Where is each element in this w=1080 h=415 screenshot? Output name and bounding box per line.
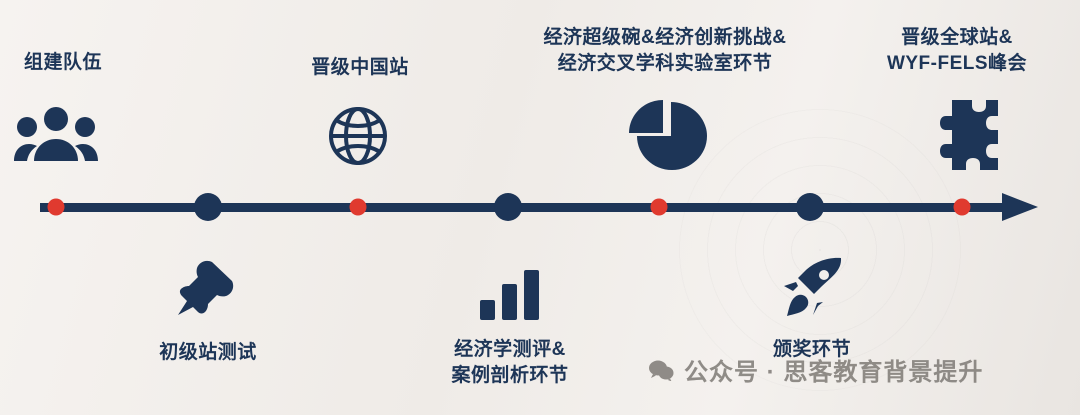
bar-chart-icon [476, 270, 544, 320]
team-icon [14, 105, 98, 165]
timeline-label-1: 组建队伍 [0, 50, 173, 76]
timeline-node-2[interactable] [194, 193, 222, 221]
watermark: 公众号 · 思客教育背景提升 [648, 352, 983, 387]
timeline-label-2: 初级站测试 [78, 340, 338, 366]
timeline-diagram: 组建队伍 初级站测试 晋级中国站 [0, 0, 1080, 415]
timeline-node-5[interactable] [651, 199, 668, 216]
puzzle-icon [922, 96, 1002, 176]
pin-icon [177, 256, 239, 318]
timeline-node-3[interactable] [350, 199, 367, 216]
timeline-arrow-icon [1002, 193, 1038, 221]
timeline-label-4: 经济学测评& 案例剖析环节 [370, 337, 650, 389]
timeline-node-6[interactable] [796, 193, 824, 221]
watermark-text: 公众号 · 思客教育背景提升 [684, 352, 983, 387]
timeline-label-7: 晋级全球站& WYF-FELS峰会 [827, 25, 1080, 77]
wechat-badge-icon [648, 359, 674, 381]
timeline-axis [40, 200, 1040, 214]
timeline-label-3: 晋级中国站 [240, 55, 480, 81]
timeline-node-4[interactable] [494, 193, 522, 221]
timeline-node-7[interactable] [954, 199, 971, 216]
globe-icon [327, 105, 389, 167]
rocket-icon [779, 256, 845, 318]
timeline-label-5: 经济超级碗&经济创新挑战& 经济交叉学科实验室环节 [450, 25, 880, 77]
pie-chart-icon [625, 98, 711, 170]
timeline-axis-line [40, 203, 1005, 212]
timeline-node-1[interactable] [48, 199, 65, 216]
